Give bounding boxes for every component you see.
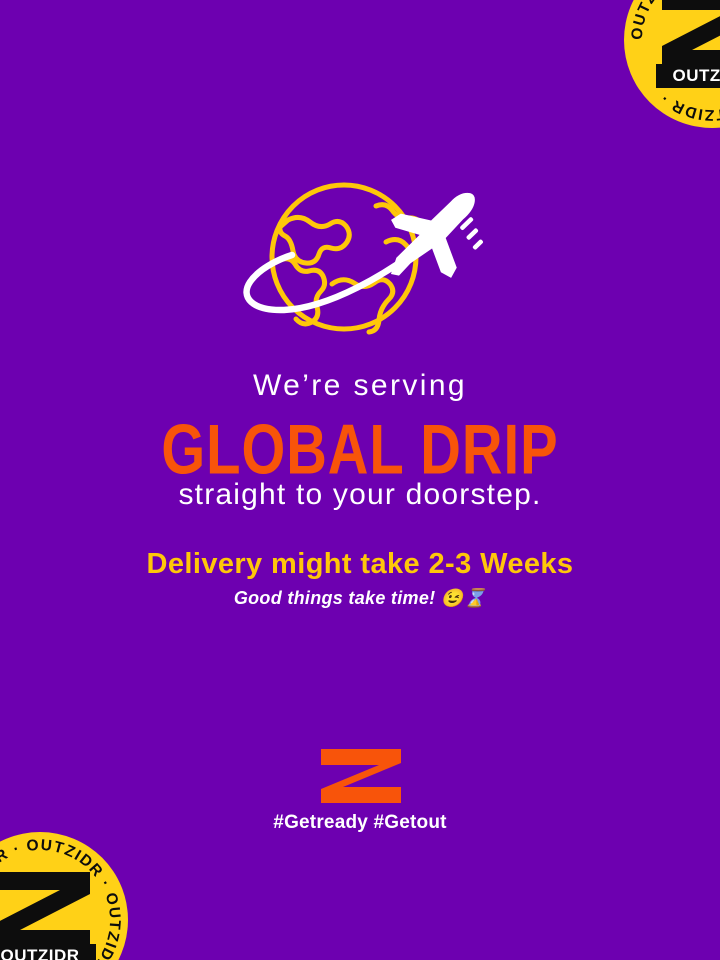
- eyebrow-text: We’re serving: [0, 369, 720, 403]
- subtitle-text: straight to your doorstep.: [0, 478, 720, 512]
- promo-poster: We’re serving GLOBAL DRIP straight to yo…: [0, 0, 720, 960]
- badge-core-top-right: OUTZIDR: [656, 0, 720, 92]
- hashtags-text: #Getready #Getout: [0, 812, 720, 834]
- badge-bottom-left: OUTZIDR · OUTZIDR · OUTZIDR · OUTZIDR · …: [0, 832, 128, 960]
- globe-airplane-graphic: [236, 172, 486, 342]
- badge-top-right: OUTZIDR · OUTZIDR · OUTZIDR · OUTZIDR · …: [624, 0, 720, 128]
- badge-core-bottom-left: OUTZIDR: [0, 868, 96, 960]
- z-logo-icon: [321, 749, 401, 803]
- badge-wordmark: OUTZIDR: [0, 946, 79, 960]
- badge-wordmark: OUTZIDR: [672, 66, 720, 85]
- airplane-icon: [388, 192, 485, 280]
- delivery-notice: Delivery might take 2-3 Weeks: [0, 548, 720, 581]
- reassurance-text: Good things take time! 😉⌛: [0, 588, 720, 609]
